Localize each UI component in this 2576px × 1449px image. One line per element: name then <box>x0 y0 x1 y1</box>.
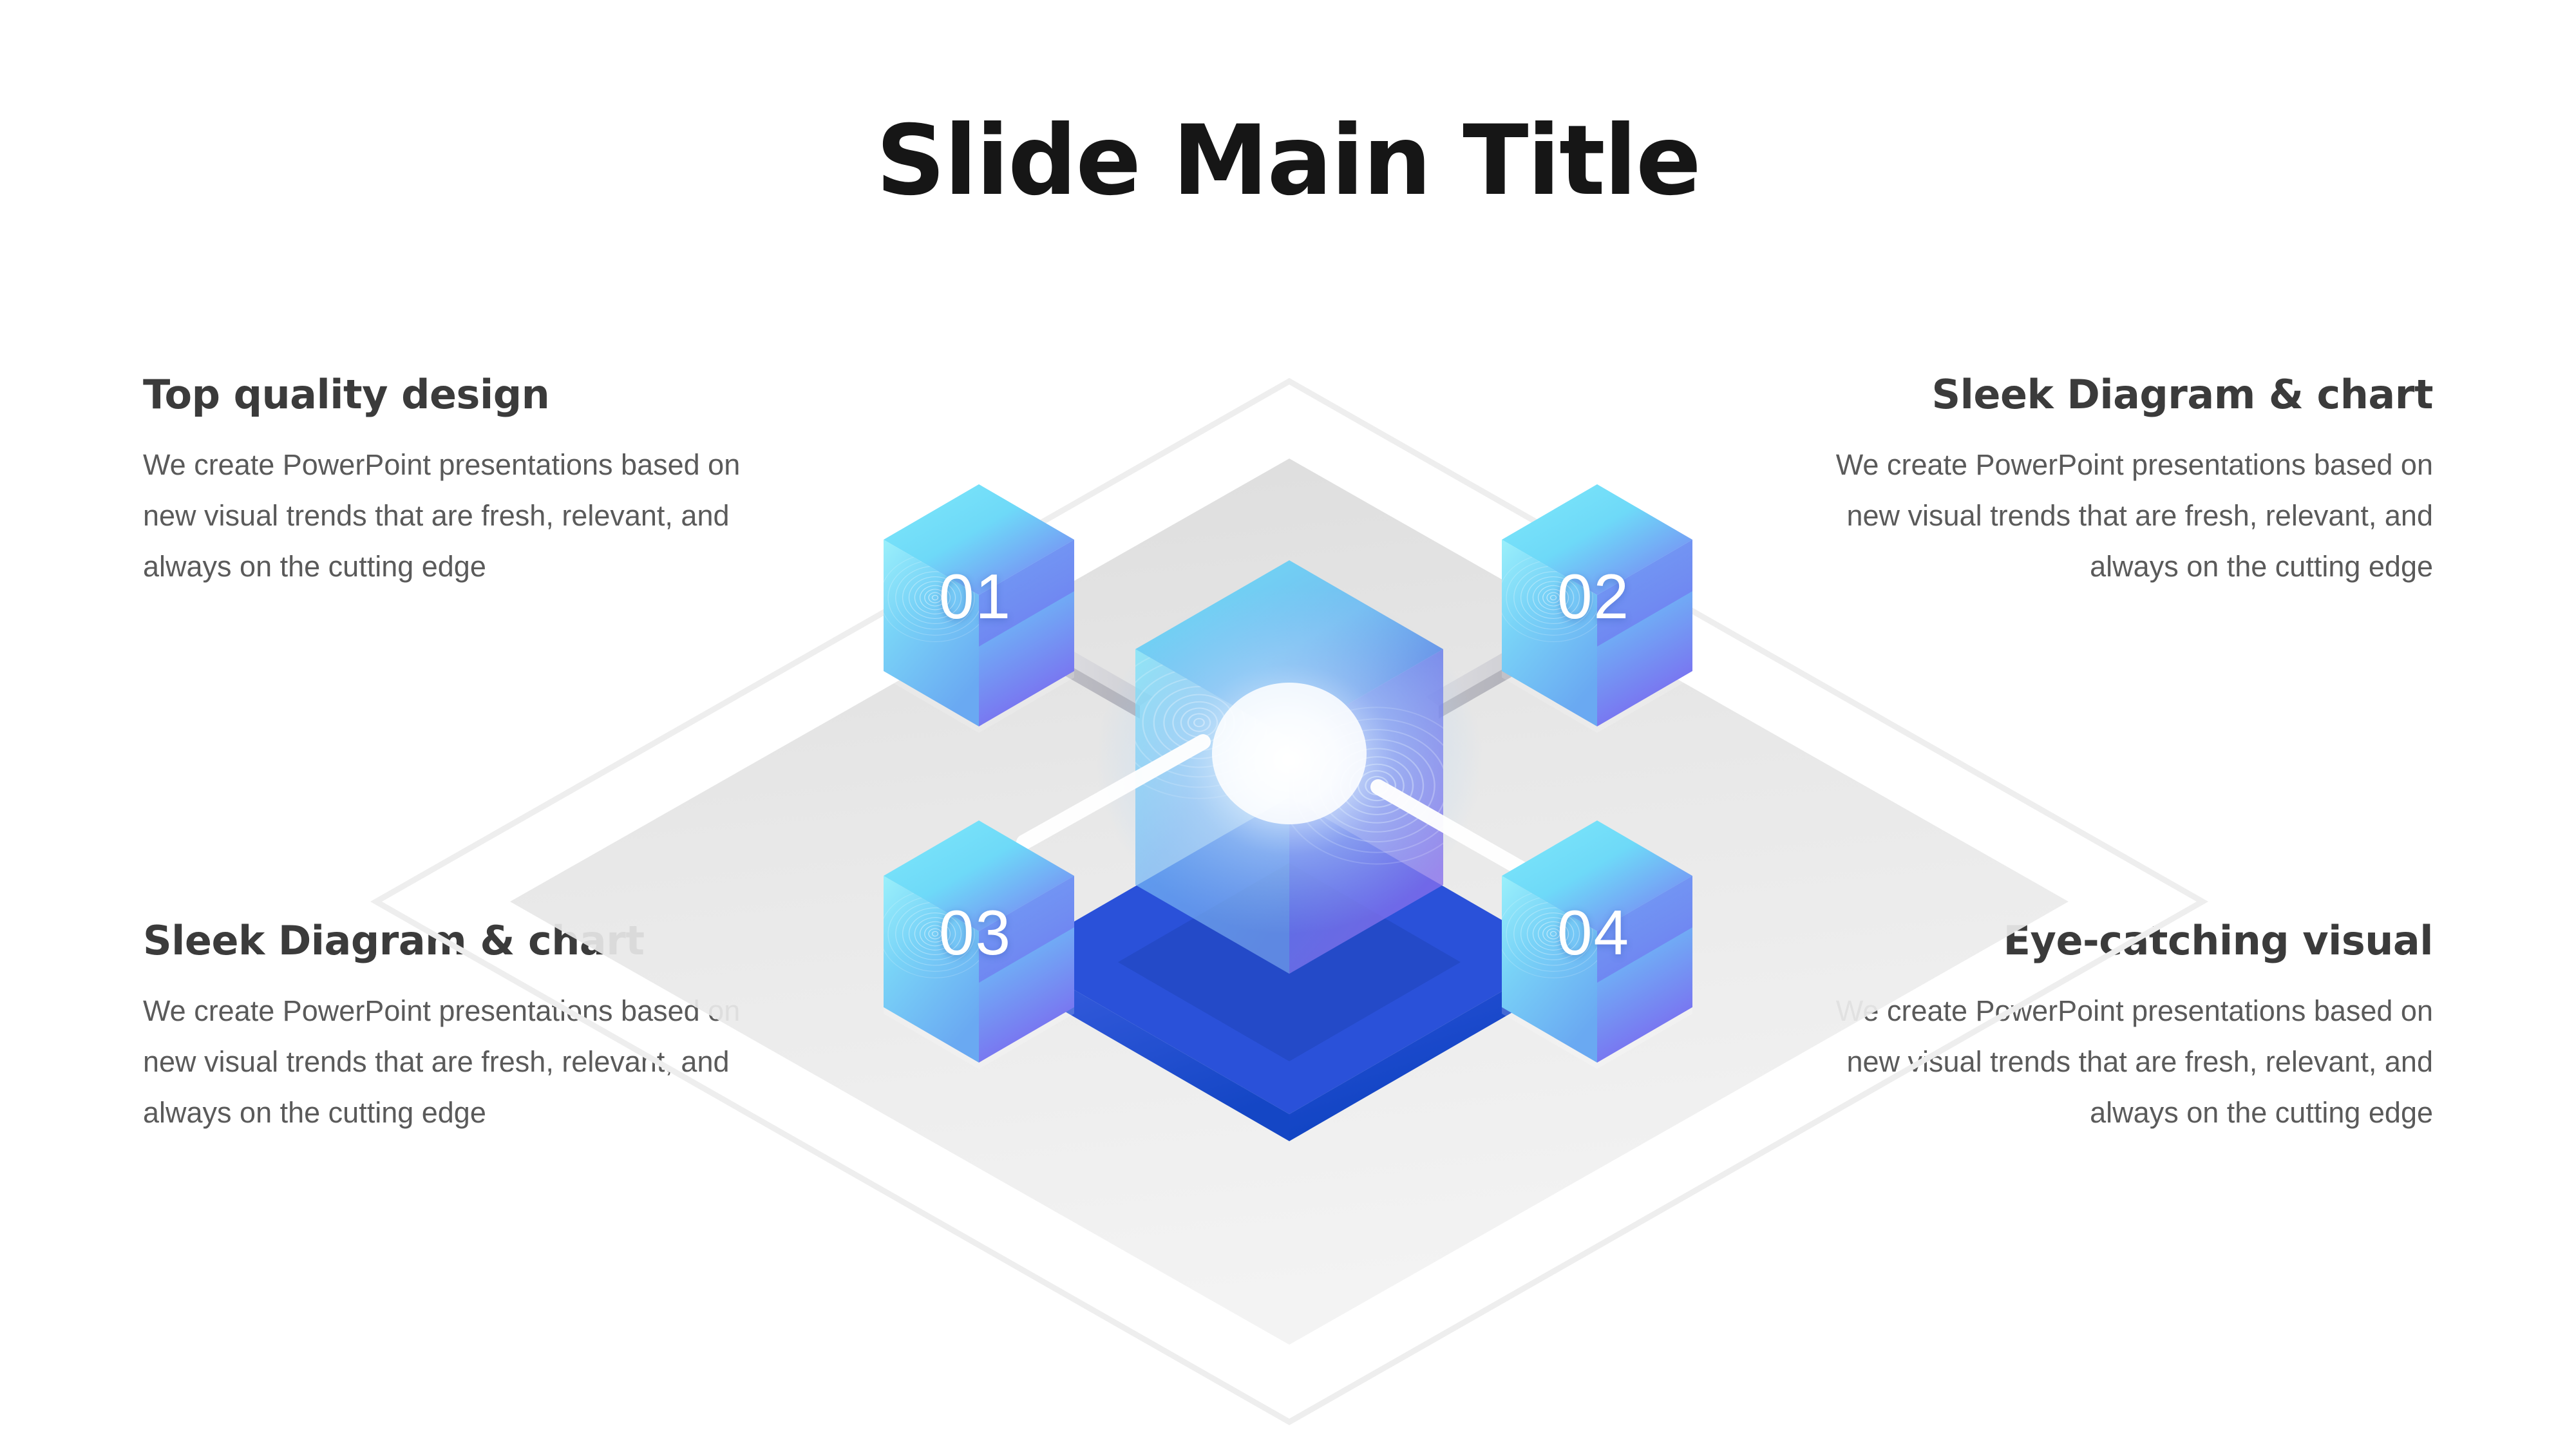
connector-line-left <box>1024 742 1203 842</box>
feature-body-top-right: We create PowerPoint presentations based… <box>1828 440 2433 592</box>
connector-bar-01 <box>1061 652 1153 719</box>
feature-heading-top-right: Sleek Diagram & chart <box>1828 374 2433 415</box>
feature-block-top-left: Top quality design We create PowerPoint … <box>143 374 748 592</box>
page-title: Slide Main Title <box>0 113 2576 209</box>
feature-heading-bottom-right: Eye-catching visual <box>1828 920 2433 961</box>
blue-platform <box>989 741 1589 1141</box>
node-label-04: 04 <box>1557 896 1630 969</box>
feature-heading-bottom-left: Sleek Diagram & chart <box>143 920 748 961</box>
ripple-icon-center-left <box>1079 627 1319 819</box>
node-label-03: 03 <box>939 896 1012 969</box>
connector-bar-04 <box>1426 903 1517 961</box>
feature-heading-top-left: Top quality design <box>143 374 748 415</box>
slide-canvas: Slide Main Title Top quality design We c… <box>0 0 2576 1449</box>
feature-block-bottom-left: Sleek Diagram & chart We create PowerPoi… <box>143 920 748 1138</box>
node-label-02: 02 <box>1557 560 1630 633</box>
isometric-diagram <box>0 0 2576 1449</box>
feature-body-top-left: We create PowerPoint presentations based… <box>143 440 748 592</box>
node-label-01: 01 <box>939 560 1012 633</box>
connector-bar-02 <box>1426 652 1517 719</box>
feature-body-bottom-right: We create PowerPoint presentations based… <box>1828 986 2433 1138</box>
feature-body-bottom-left: We create PowerPoint presentations based… <box>143 986 748 1138</box>
connector-line-right <box>1378 787 1558 890</box>
center-cube <box>1079 560 1500 974</box>
isometric-diagram-svg <box>0 0 2576 1449</box>
feature-block-bottom-right: Eye-catching visual We create PowerPoint… <box>1828 920 2433 1138</box>
feature-block-top-right: Sleek Diagram & chart We create PowerPoi… <box>1828 374 2433 592</box>
connector-bar-03 <box>1061 903 1153 961</box>
ripple-icon-center-right <box>1253 687 1500 884</box>
